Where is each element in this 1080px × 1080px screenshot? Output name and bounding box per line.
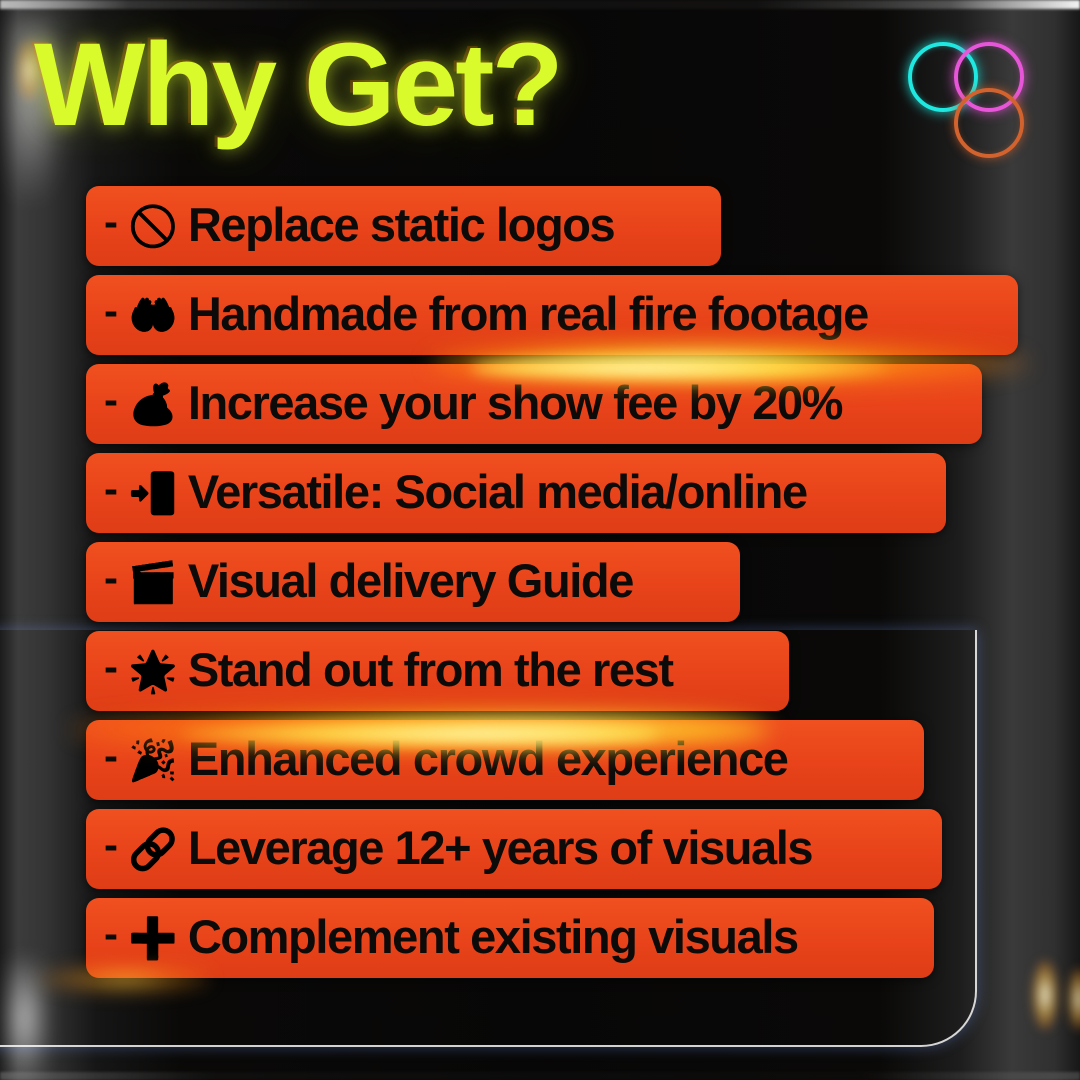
- benefits-list: -🚫Replace static logos-🤲Handmade from re…: [0, 186, 1080, 987]
- benefit-pill[interactable]: -🌟Stand out from the rest: [86, 631, 789, 711]
- benefit-label: Enhanced crowd experience: [188, 735, 788, 782]
- benefit-label: Handmade from real fire footage: [188, 290, 868, 337]
- benefit-label: Visual delivery Guide: [188, 557, 633, 604]
- bullet-dash: -: [104, 646, 118, 688]
- prohibited-icon: 🚫: [128, 207, 178, 247]
- benefit-pill[interactable]: -📲Versatile: Social media/online: [86, 453, 946, 533]
- three-circle-logo[interactable]: [908, 36, 1048, 166]
- bullet-dash: -: [104, 468, 118, 510]
- benefit-pill[interactable]: -🤲Handmade from real fire footage: [86, 275, 1018, 355]
- benefit-pill[interactable]: -🚫Replace static logos: [86, 186, 721, 266]
- benefit-row: -🤲Handmade from real fire footage: [0, 275, 1080, 355]
- benefit-row: -💰Increase your show fee by 20%: [0, 364, 1080, 444]
- benefit-label: Versatile: Social media/online: [188, 468, 807, 515]
- open-hands-icon: 🤲: [128, 296, 178, 336]
- party-popper-icon: 🎉: [128, 741, 178, 781]
- benefit-pill[interactable]: -🔗Leverage 12+ years of visuals: [86, 809, 942, 889]
- benefit-label: Stand out from the rest: [188, 646, 673, 693]
- benefit-label: Leverage 12+ years of visuals: [188, 824, 812, 871]
- bullet-dash: -: [104, 290, 118, 332]
- page-title: Why Get?: [34, 24, 561, 148]
- bullet-dash: -: [104, 557, 118, 599]
- benefit-pill[interactable]: -🎬Visual delivery Guide: [86, 542, 740, 622]
- benefit-pill[interactable]: -➕Complement existing visuals: [86, 898, 934, 978]
- bullet-dash: -: [104, 735, 118, 777]
- benefit-row: -📲Versatile: Social media/online: [0, 453, 1080, 533]
- bullet-dash: -: [104, 824, 118, 866]
- benefit-row: -🔗Leverage 12+ years of visuals: [0, 809, 1080, 889]
- benefit-label: Complement existing visuals: [188, 913, 798, 960]
- benefit-label: Replace static logos: [188, 201, 615, 248]
- orange-ring-icon: [954, 88, 1024, 158]
- poster-canvas: Why Get? -🚫Replace static logos-🤲Handmad…: [0, 0, 1080, 1080]
- bullet-dash: -: [104, 379, 118, 421]
- benefit-pill[interactable]: -💰Increase your show fee by 20%: [86, 364, 982, 444]
- top-edge-highlight: [0, 0, 1080, 9]
- bullet-dash: -: [104, 913, 118, 955]
- bottom-edge-highlight: [0, 1072, 1080, 1080]
- bullet-dash: -: [104, 201, 118, 243]
- plus-icon: ➕: [128, 919, 178, 959]
- glowing-star-icon: 🌟: [128, 652, 178, 692]
- benefit-row: -➕Complement existing visuals: [0, 898, 1080, 978]
- mobile-arrow-icon: 📲: [128, 474, 178, 514]
- link-chain-icon: 🔗: [128, 830, 178, 870]
- benefit-label: Increase your show fee by 20%: [188, 379, 842, 426]
- benefit-row: -🚫Replace static logos: [0, 186, 1080, 266]
- money-bag-icon: 💰: [128, 385, 178, 425]
- benefit-row: -🎬Visual delivery Guide: [0, 542, 1080, 622]
- benefit-row: -🎉Enhanced crowd experience: [0, 720, 1080, 800]
- clapper-board-icon: 🎬: [128, 563, 178, 603]
- benefit-pill[interactable]: -🎉Enhanced crowd experience: [86, 720, 924, 800]
- benefit-row: -🌟Stand out from the rest: [0, 631, 1080, 711]
